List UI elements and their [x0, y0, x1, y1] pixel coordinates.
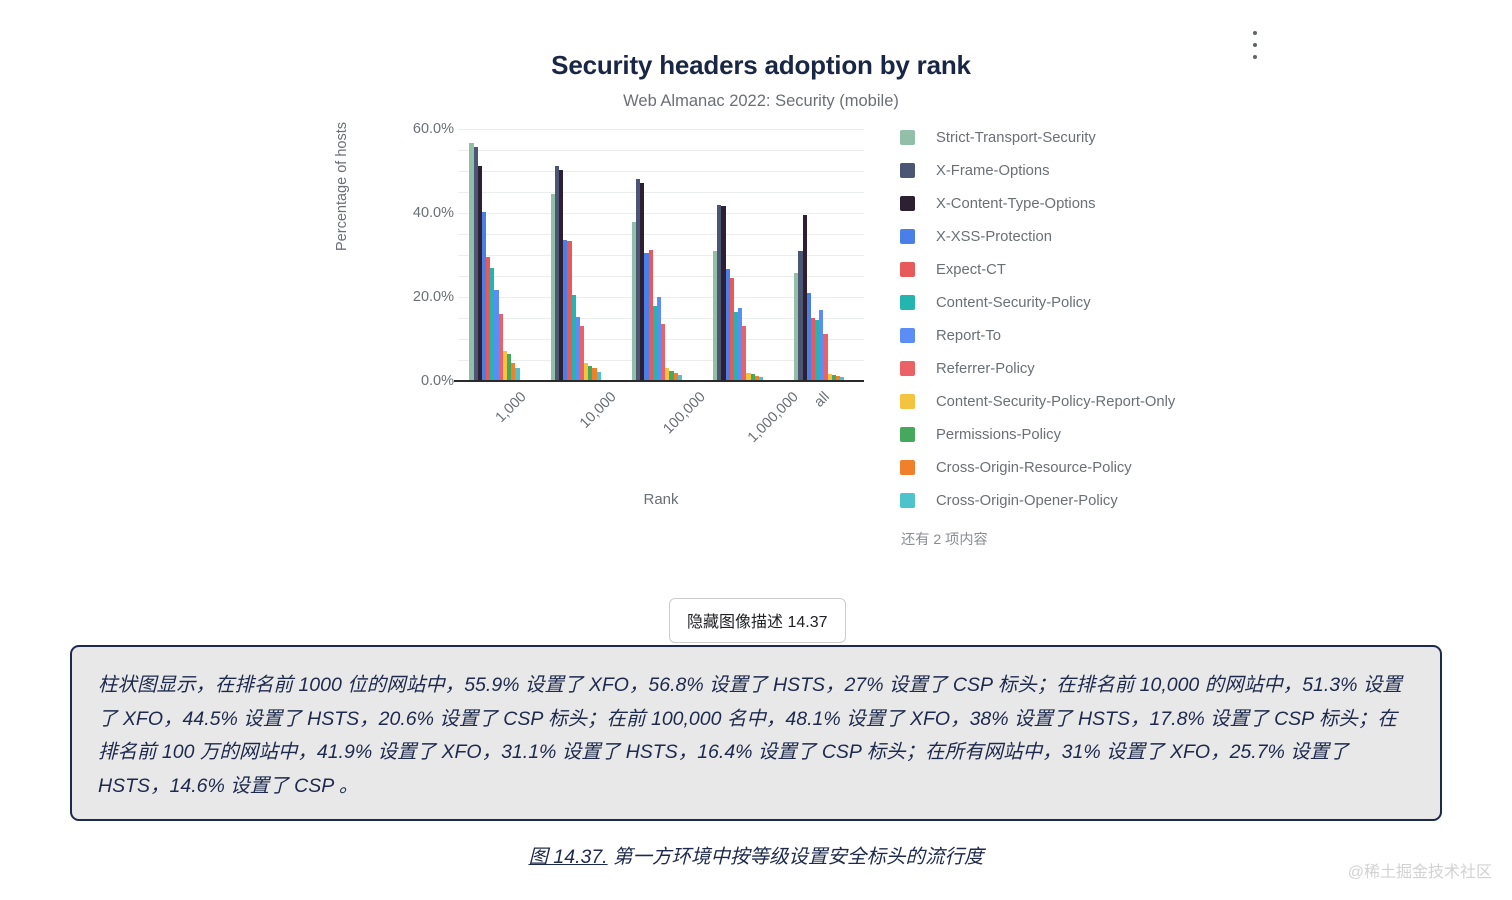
legend-item[interactable]: Permissions-Policy	[900, 418, 1210, 451]
bar-groups	[458, 121, 864, 381]
legend-item-label: Strict-Transport-Security	[936, 130, 1096, 146]
y-axis-tick-label: 20.0%	[390, 289, 454, 305]
y-axis-tick-label: 60.0%	[390, 121, 454, 137]
legend-item-label: X-Frame-Options	[936, 163, 1049, 179]
legend-more-text[interactable]: 还有 2 项内容	[901, 529, 1210, 549]
legend-item-label: Permissions-Policy	[936, 427, 1061, 443]
legend-item[interactable]: X-XSS-Protection	[900, 220, 1210, 253]
legend-swatch	[900, 493, 915, 508]
x-axis-tick-label: all	[811, 389, 833, 411]
legend-item-label: Referrer-Policy	[936, 361, 1035, 377]
legend-item[interactable]: Strict-Transport-Security	[900, 121, 1210, 154]
bar-group	[620, 121, 701, 381]
chart-card: Security headers adoption by rank Web Al…	[300, 50, 1212, 570]
legend-item[interactable]: X-Content-Type-Options	[900, 187, 1210, 220]
legend-swatch	[900, 394, 915, 409]
legend-item[interactable]: Content-Security-Policy	[900, 286, 1210, 319]
x-axis-title: Rank	[458, 491, 864, 508]
bar-group	[458, 121, 539, 381]
y-axis-ticks: 60.0%40.0%20.0%0.0%	[390, 121, 454, 381]
page-root: Security headers adoption by rank Web Al…	[0, 0, 1512, 900]
legend-swatch	[900, 361, 915, 376]
legend-item-label: Expect-CT	[936, 262, 1006, 278]
bar-stack	[713, 121, 763, 381]
legend-swatch	[900, 328, 915, 343]
bar-group	[702, 121, 783, 381]
legend-item[interactable]: Referrer-Policy	[900, 352, 1210, 385]
figure-caption: 图 14.37. 第一方环境中按等级设置安全标头的流行度	[0, 840, 1512, 869]
watermark: @稀土掘金技术社区	[1348, 858, 1492, 882]
chart-legend: Strict-Transport-SecurityX-Frame-Options…	[900, 121, 1210, 549]
image-description-text: 柱状图显示，在排名前 1000 位的网站中，55.9% 设置了 XFO，56.8…	[98, 669, 1414, 803]
legend-item-label: X-XSS-Protection	[936, 229, 1052, 245]
x-axis-tick-label: 100,000	[660, 389, 708, 437]
legend-swatch	[900, 460, 915, 475]
legend-item[interactable]: Cross-Origin-Resource-Policy	[900, 451, 1210, 484]
bar-stack	[632, 121, 682, 381]
bar-group	[783, 121, 864, 381]
image-description-box: 柱状图显示，在排名前 1000 位的网站中，55.9% 设置了 XFO，56.8…	[70, 645, 1442, 821]
legend-item-label: Content-Security-Policy	[936, 295, 1091, 311]
legend-swatch	[900, 295, 915, 310]
dot	[1253, 43, 1257, 47]
legend-item-label: Content-Security-Policy-Report-Only	[936, 394, 1175, 410]
legend-item[interactable]: X-Frame-Options	[900, 154, 1210, 187]
figure-caption-link[interactable]: 图 14.37.	[528, 846, 607, 868]
legend-item[interactable]: Expect-CT	[900, 253, 1210, 286]
legend-swatch	[900, 262, 915, 277]
figure-caption-text: 第一方环境中按等级设置安全标头的流行度	[608, 846, 984, 868]
legend-swatch	[900, 130, 915, 145]
legend-item-label: Cross-Origin-Resource-Policy	[936, 460, 1132, 476]
legend-item-label: Report-To	[936, 328, 1001, 344]
bar-stack	[794, 121, 844, 381]
toggle-image-description-button[interactable]: 隐藏图像描述 14.37	[669, 598, 846, 643]
plot-area	[458, 121, 864, 381]
legend-item-label: Cross-Origin-Opener-Policy	[936, 493, 1118, 509]
y-axis-tick-label: 40.0%	[390, 205, 454, 221]
more-vertical-icon[interactable]	[1243, 28, 1267, 62]
chart-title: Security headers adoption by rank	[310, 50, 1212, 81]
legend-item[interactable]: Cross-Origin-Opener-Policy	[900, 484, 1210, 517]
dot	[1253, 31, 1257, 35]
x-axis-ticks: 1,00010,000100,0001,000,000all	[458, 383, 864, 463]
x-axis-tick-label: 1,000	[493, 389, 530, 426]
legend-item[interactable]: Content-Security-Policy-Report-Only	[900, 385, 1210, 418]
legend-swatch	[900, 163, 915, 178]
x-axis-tick-label: 10,000	[577, 389, 620, 432]
legend-swatch	[900, 196, 915, 211]
bar-stack	[551, 121, 601, 381]
bar-stack	[469, 121, 519, 381]
legend-item-label: X-Content-Type-Options	[936, 196, 1096, 212]
legend-swatch	[900, 229, 915, 244]
legend-item[interactable]: Report-To	[900, 319, 1210, 352]
x-axis-line	[454, 380, 864, 382]
y-axis-tick-label: 0.0%	[390, 373, 454, 389]
legend-swatch	[900, 427, 915, 442]
bar-group	[539, 121, 620, 381]
plot-wrap: Percentage of hosts 60.0%40.0%20.0%0.0% …	[300, 121, 1212, 551]
chart-subtitle: Web Almanac 2022: Security (mobile)	[310, 92, 1212, 111]
dot	[1253, 55, 1257, 59]
x-axis-tick-label: 1,000,000	[745, 389, 802, 446]
y-axis-title: Percentage of hosts	[334, 122, 350, 251]
